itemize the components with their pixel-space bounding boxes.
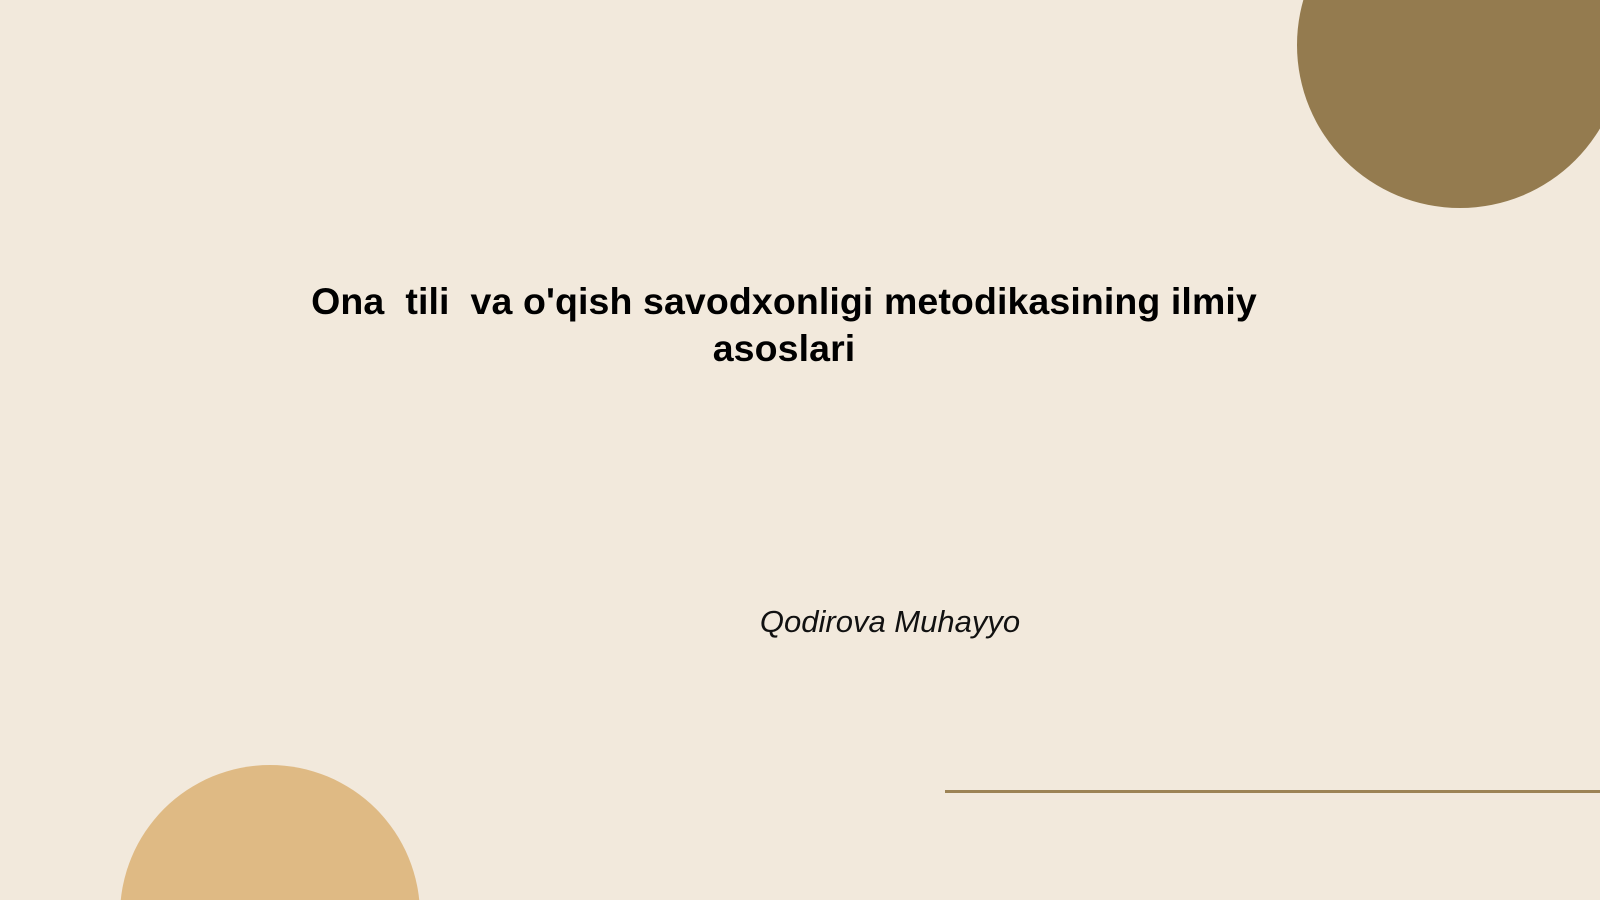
presentation-slide: Ona tili va o'qish savodxonligi metodika…	[0, 0, 1600, 900]
circle-bottom-left-decoration	[120, 765, 420, 900]
slide-title: Ona tili va o'qish savodxonligi metodika…	[300, 278, 1268, 371]
horizontal-rule-decoration	[945, 790, 1600, 793]
circle-top-right-decoration	[1297, 0, 1600, 208]
slide-author-block: Qodirova Muhayyo	[600, 603, 1180, 640]
slide-author: Qodirova Muhayyo	[600, 603, 1180, 640]
slide-title-block: Ona tili va o'qish savodxonligi metodika…	[300, 278, 1268, 371]
